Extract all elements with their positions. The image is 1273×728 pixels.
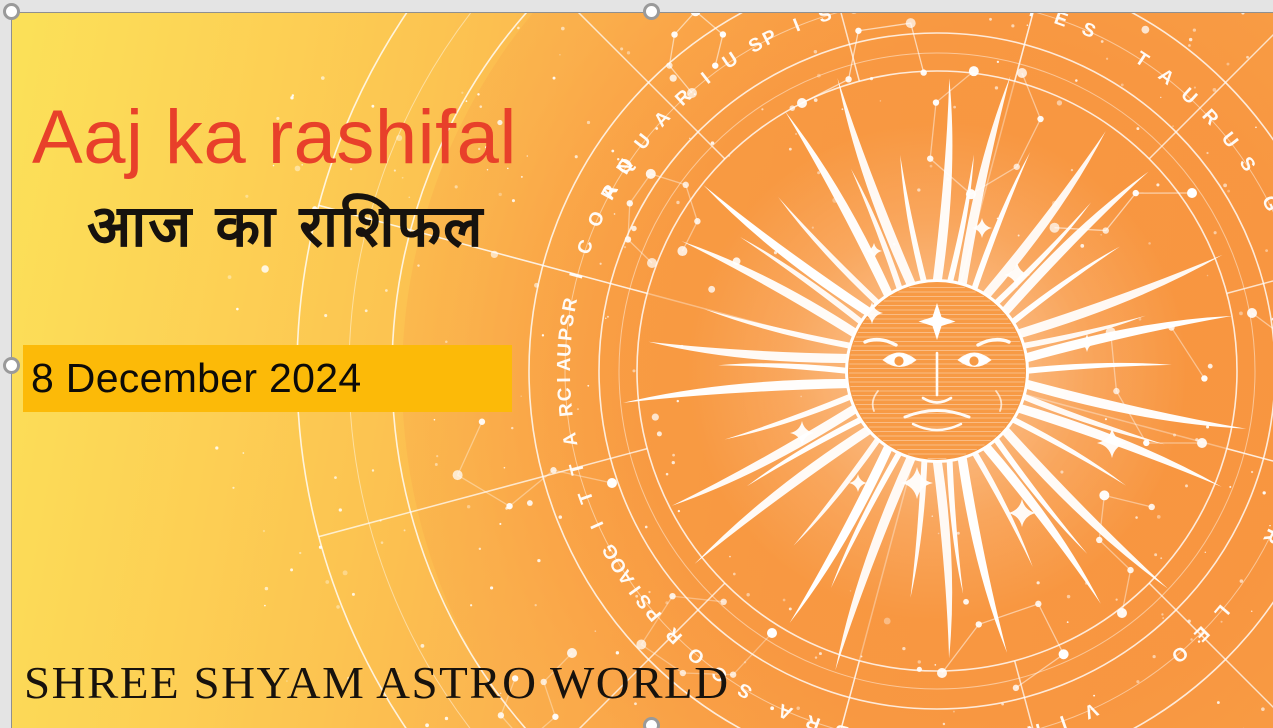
svg-text:N: N <box>613 153 639 178</box>
svg-text:O: O <box>584 206 610 230</box>
svg-text:G: G <box>597 538 624 563</box>
svg-text:R: R <box>1198 105 1224 131</box>
svg-text:U: U <box>1177 84 1203 110</box>
svg-text:S: S <box>745 32 768 58</box>
wheel-glow <box>402 12 1273 728</box>
svg-text:C: C <box>845 13 865 20</box>
svg-text:O: O <box>605 551 632 577</box>
svg-text:R: R <box>994 13 1014 16</box>
svg-text:R: R <box>660 621 686 647</box>
svg-text:A: A <box>650 105 676 131</box>
svg-text:S: S <box>557 310 580 328</box>
svg-text:S: S <box>1079 19 1101 44</box>
handle-bottom-center[interactable] <box>643 717 660 728</box>
svg-text:I: I <box>586 516 608 532</box>
svg-text:I: I <box>1027 13 1040 22</box>
svg-text:I: I <box>554 375 575 383</box>
svg-text:I: I <box>791 14 806 36</box>
svg-text:S: S <box>732 677 756 703</box>
svg-text:G: G <box>1257 192 1273 217</box>
svg-text:O: O <box>1165 641 1192 668</box>
svg-text:R: R <box>1023 719 1044 728</box>
svg-text:R: R <box>801 709 823 728</box>
brand-name: SHREE SHYAM ASTRO WORLD <box>24 660 730 706</box>
svg-text:I: I <box>624 580 646 599</box>
title-english: Aaj ka rashifal <box>32 100 517 176</box>
svg-text:R: R <box>671 84 697 110</box>
svg-text:Q: Q <box>613 152 640 178</box>
svg-text:U: U <box>631 128 657 154</box>
svg-text:T: T <box>565 458 589 477</box>
svg-text:E: E <box>876 13 894 14</box>
svg-text:T: T <box>574 486 598 506</box>
svg-text:V: V <box>1079 698 1101 723</box>
svg-text:C: C <box>574 235 599 257</box>
svg-text:I: I <box>698 67 717 88</box>
svg-text:L: L <box>1208 600 1233 624</box>
svg-text:S: S <box>1235 153 1261 177</box>
svg-text:R: R <box>559 294 583 314</box>
svg-text:P: P <box>759 25 782 51</box>
title-hindi: आज का राशिफल <box>87 193 485 260</box>
svg-text:I: I <box>566 268 588 281</box>
svg-text:A: A <box>598 179 624 203</box>
svg-text:C: C <box>554 384 576 401</box>
presentation-canvas: ARIESTAURUSGEMINICANCERLEOVIRGOLIBRASCOR… <box>0 0 1273 728</box>
svg-text:R: R <box>1257 525 1273 549</box>
handle-top-left[interactable] <box>3 3 20 20</box>
handle-left-middle[interactable] <box>3 357 20 374</box>
svg-text:S: S <box>816 13 837 28</box>
svg-text:T: T <box>1131 48 1154 73</box>
svg-text:R: R <box>555 400 578 418</box>
date-text: 8 December 2024 <box>23 355 361 402</box>
svg-text:A: A <box>773 698 796 724</box>
svg-text:E: E <box>1188 622 1214 648</box>
svg-text:U: U <box>719 47 744 73</box>
svg-text:S: S <box>631 588 657 613</box>
svg-text:A: A <box>1154 65 1180 91</box>
svg-text:I: I <box>1055 711 1069 728</box>
svg-text:A: A <box>554 355 575 372</box>
slide-object[interactable]: ARIESTAURUSGEMINICANCERLEOVIRGOLIBRASCOR… <box>11 12 1273 728</box>
svg-text:P: P <box>640 600 666 625</box>
svg-text:E: E <box>1051 13 1072 33</box>
svg-text:A: A <box>559 428 583 448</box>
svg-text:R: R <box>598 179 624 203</box>
handle-top-center[interactable] <box>643 3 660 20</box>
svg-text:P: P <box>555 325 577 342</box>
svg-text:B: B <box>830 719 851 728</box>
svg-text:A: A <box>613 564 639 589</box>
date-banner[interactable]: 8 December 2024 <box>23 345 512 412</box>
svg-text:U: U <box>554 340 576 357</box>
svg-text:U: U <box>1217 128 1243 154</box>
